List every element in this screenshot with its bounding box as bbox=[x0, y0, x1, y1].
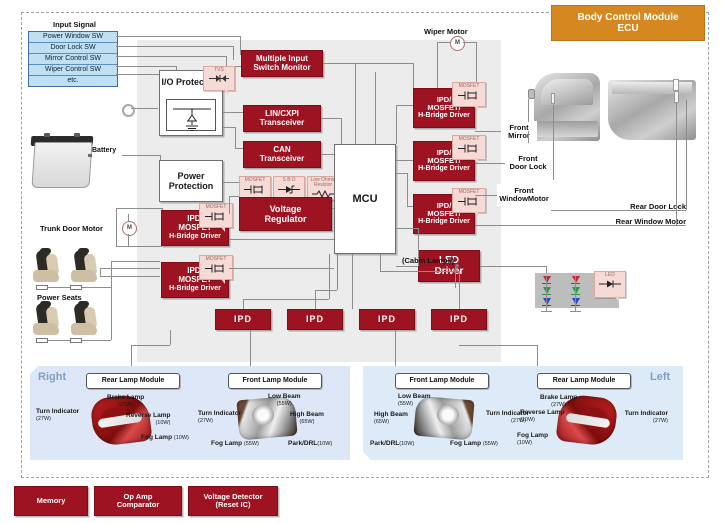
wire-mism-down bbox=[413, 63, 414, 88]
wire-batt-h bbox=[122, 155, 160, 156]
vehicle-front-bumper bbox=[536, 121, 598, 137]
block-ipd-3[interactable]: IPD bbox=[359, 309, 415, 330]
ipd4-label: IPD bbox=[450, 314, 468, 324]
legend-row: Memory Op Amp Comparator Voltage Detecto… bbox=[14, 486, 278, 516]
cap-right-front-low-beam-watt: (55W) bbox=[277, 401, 292, 407]
callout-mosfet-hb3-label: MOSFET bbox=[459, 83, 480, 89]
mosfet-glyph bbox=[240, 184, 270, 197]
wire-mcu-hb4b bbox=[396, 173, 407, 174]
tag-rear-lamp-module-right[interactable]: Rear Lamp Module bbox=[86, 373, 180, 389]
cap-left-rear-fog-lamp-watt: (10W) bbox=[517, 440, 532, 446]
mosfet-glyph-hb3 bbox=[453, 90, 485, 103]
wire-seat-top2 bbox=[100, 268, 160, 269]
cap-left-rear-reverse-lamp: Reverse Lamp (10W) bbox=[520, 409, 560, 424]
callout-tvs: TVS bbox=[203, 66, 235, 91]
cap-left-front-park-drl-watt: (10W) bbox=[399, 441, 414, 447]
cap-left-front-fog-lamp: Fog Lamp (55W) bbox=[450, 440, 498, 447]
block-ipd-1[interactable]: IPD bbox=[215, 309, 271, 330]
cap-right-front-fog-lamp-watt: (55W) bbox=[244, 441, 259, 447]
input-signal-list: Power Window SW Door Lock SW Mirror Cont… bbox=[28, 31, 118, 87]
battery-label: Battery bbox=[92, 147, 116, 154]
wiper-motor-icon: M bbox=[450, 36, 465, 51]
wire-trunk-mb bbox=[128, 234, 129, 246]
block-led-driver[interactable]: LED Driver bbox=[418, 250, 480, 282]
banner-line2: ECU bbox=[617, 23, 638, 34]
wire-trunk-bot bbox=[116, 246, 162, 247]
wire-input2v bbox=[233, 46, 234, 60]
cap-right-rear-reverse-lamp: Reverse Lamp (10W) bbox=[126, 412, 170, 427]
power-seat-icon-4 bbox=[68, 303, 102, 337]
battery-icon bbox=[31, 142, 92, 188]
wire-input4 bbox=[116, 66, 176, 67]
wire-rearwindow bbox=[475, 225, 686, 226]
wire-mcu-hb5v bbox=[407, 173, 408, 206]
mism-line2: Switch Monitor bbox=[253, 64, 310, 73]
cap-left-front-park-drl-name: Park/DRL bbox=[370, 440, 399, 447]
ipd1-label: IPD bbox=[234, 314, 252, 324]
side-label-right: Right bbox=[38, 371, 66, 383]
wire-hb1-vr bbox=[229, 196, 239, 197]
wire-seat-bus bbox=[111, 287, 112, 340]
mcu-label: MCU bbox=[352, 193, 377, 206]
vr-line1: Voltage bbox=[264, 204, 306, 214]
block-voltage-regulator[interactable]: Voltage Regulator bbox=[239, 197, 332, 231]
wire-seat-c bbox=[48, 340, 70, 341]
cap-left-front-low-beam-name: Low Beam bbox=[398, 393, 431, 400]
block-power-protection[interactable]: Power Protection bbox=[159, 160, 223, 202]
ipd3-label: IPD bbox=[378, 314, 396, 324]
cap-right-front-turn-indicator-name: Turn Indicator bbox=[198, 410, 241, 417]
wire-mcu-leddrv bbox=[396, 266, 418, 267]
wire-input5 bbox=[116, 74, 160, 75]
vehicle-front-door-handle bbox=[551, 93, 555, 104]
hb5-line3: H-Bridge Driver bbox=[418, 218, 470, 226]
wire-seat-b bbox=[82, 287, 111, 288]
mosfet-glyph-hb5 bbox=[453, 196, 485, 209]
tag-rear-lamp-module-left[interactable]: Rear Lamp Module bbox=[537, 373, 631, 389]
vr-line2: Regulator bbox=[264, 214, 306, 224]
cap-right-front-turn-indicator: Turn Indicator (27W) bbox=[198, 410, 238, 425]
wire-mcu-hb5 bbox=[407, 206, 413, 207]
wire-mcu-top1 bbox=[355, 63, 356, 144]
wire-input2 bbox=[116, 46, 233, 47]
wire-input3v bbox=[226, 56, 227, 66]
wire-ipd1-down bbox=[170, 330, 171, 345]
cap-right-rear-turn-indicator-watt: (27W) bbox=[36, 416, 51, 422]
wire-hb1-mcu bbox=[229, 239, 334, 240]
wire-ipd4-rear-left-h bbox=[459, 345, 537, 346]
cap-left-front-low-beam: Low Beam (55W) bbox=[398, 393, 431, 408]
hb1-line3: H-Bridge Driver bbox=[169, 233, 221, 241]
cap-right-front-high-beam-watt: (65W) bbox=[299, 419, 314, 425]
wire-mcu-ipd3 bbox=[352, 254, 353, 309]
block-ipd-4[interactable]: IPD bbox=[431, 309, 487, 330]
cap-right-front-high-beam: High Beam (65W) bbox=[290, 411, 324, 426]
input-signal-title: Input Signal bbox=[53, 20, 96, 29]
wire-conn-io bbox=[131, 108, 158, 109]
wire-mcu-ipd2v2 bbox=[337, 254, 338, 290]
cap-right-rear-reverse-lamp-name: Reverse Lamp bbox=[126, 412, 170, 419]
ignition-connector-icon bbox=[122, 104, 135, 117]
cabin-led-blue-1 bbox=[543, 298, 551, 305]
can-line2: Transceiver bbox=[260, 155, 304, 164]
cap-left-rear-brake-lamp-name: Brake Lamp bbox=[540, 394, 577, 401]
hb4-line3: H-Bridge Driver bbox=[418, 165, 470, 173]
banner-line1: Body Control Module bbox=[577, 12, 678, 23]
lin-line2: Transceiver bbox=[260, 119, 304, 128]
cabin-lamps-label: (Cabin Lamps) bbox=[402, 256, 454, 265]
label-front-window-motor: Front WindowMotor bbox=[497, 184, 551, 206]
cap-left-rear-turn-indicator-watt: (27W) bbox=[653, 418, 668, 424]
label-front-door-lock: Front Door Lock bbox=[505, 152, 551, 174]
wire-seat-top3 bbox=[100, 276, 160, 277]
wire-seat-up bbox=[111, 261, 112, 287]
legend-vdet-line2: (Reset IC) bbox=[203, 501, 262, 509]
battery-terminal-right bbox=[74, 133, 80, 137]
callout-mosfet-label: MOSFET bbox=[245, 177, 266, 183]
cabin-led-gnd-2 bbox=[570, 311, 581, 312]
seat-rail-2 bbox=[70, 285, 82, 290]
pp-line1: Power bbox=[177, 171, 204, 181]
diagram-canvas: Body Control Module ECU Input Signal Pow… bbox=[0, 0, 722, 523]
wire-frontdoorlock bbox=[475, 163, 505, 164]
wire-mcu-ipd4b bbox=[380, 271, 459, 272]
cap-right-rear-fog-lamp-watt: (10W) bbox=[174, 435, 189, 441]
block-can-transceiver[interactable]: CAN Transceiver bbox=[243, 141, 321, 168]
legend-voltage-detector[interactable]: Voltage Detector (Reset IC) bbox=[188, 486, 278, 516]
callout-led-label: LED bbox=[605, 272, 615, 278]
cap-right-front-park-drl-watt: (10W) bbox=[317, 441, 332, 447]
cap-left-rear-turn-indicator: Turn Indicator (27W) bbox=[624, 410, 668, 425]
wire-trunk-mt bbox=[128, 214, 129, 221]
cap-left-rear-brake-lamp-watt: (27W) bbox=[551, 402, 566, 408]
trunk-motor-icon: M bbox=[122, 221, 137, 236]
callout-sbd-label: S B D bbox=[282, 177, 295, 183]
cap-right-front-park-drl: Park/DRL(10W) bbox=[288, 440, 332, 447]
cap-left-front-park-drl: Park/DRL(10W) bbox=[370, 440, 414, 447]
legend-op-amp-comparator[interactable]: Op Amp Comparator bbox=[94, 486, 182, 516]
cap-right-front-low-beam: Low Beam (55W) bbox=[268, 393, 301, 408]
cabin-led-red-2 bbox=[572, 276, 580, 283]
mosfet-glyph-hb1 bbox=[200, 211, 232, 224]
vehicle-rear-door-window bbox=[612, 82, 692, 94]
wire-mcu-hb4 bbox=[396, 160, 413, 161]
callout-mosfet-hb4: MOSFET bbox=[452, 135, 486, 160]
wire-wiper-r bbox=[476, 42, 477, 82]
cap-left-rear-fog-lamp-name: Fog Lamp bbox=[517, 432, 548, 439]
wire-seat-d bbox=[82, 340, 111, 341]
wire-lin-mcu-v bbox=[341, 118, 342, 144]
legend-opamp-line2: Comparator bbox=[117, 501, 160, 509]
cap-right-rear-brake-lamp: Brake Lamp (27W) bbox=[107, 394, 144, 409]
wire-wiper-lh bbox=[437, 42, 450, 43]
cap-left-rear-reverse-lamp-name: Reverse Lamp bbox=[520, 409, 564, 416]
cap-right-front-high-beam-name: High Beam bbox=[290, 411, 324, 418]
tvs-symbol-box bbox=[166, 99, 216, 131]
front-window-motor-line2: WindowMotor bbox=[499, 195, 549, 203]
block-lin-cxpi-transceiver[interactable]: LIN/CXPI Transceiver bbox=[243, 105, 321, 132]
seat-rail-4 bbox=[70, 338, 82, 343]
wire-mirror bbox=[475, 131, 501, 132]
wire-ipd3-front-left bbox=[395, 330, 396, 366]
input-item-etc[interactable]: etc. bbox=[29, 76, 117, 86]
wire-trunk-top bbox=[116, 208, 162, 209]
wiper-motor-label: Wiper Motor bbox=[424, 27, 468, 36]
cap-right-rear-turn-indicator: Turn Indicator (27W) bbox=[36, 408, 78, 423]
cabin-led-rail-2 bbox=[575, 276, 576, 312]
cap-right-rear-fog-lamp: Fog Lamp (10W) bbox=[141, 434, 189, 441]
cabin-node-dot bbox=[455, 264, 459, 268]
wire-mcu-hb3v bbox=[396, 105, 397, 144]
wire-mcu-hb5b bbox=[396, 228, 418, 229]
wire-mism-right bbox=[323, 63, 413, 64]
cap-left-front-high-beam-name: High Beam bbox=[374, 411, 408, 418]
cap-right-rear-reverse-lamp-watt: (10W) bbox=[155, 420, 170, 426]
wire-mcu-ipd4c bbox=[459, 271, 460, 309]
callout-tvs-label: TVS bbox=[214, 67, 224, 73]
cap-right-rear-brake-lamp-watt: (27W) bbox=[118, 402, 133, 408]
wire-ipd1-rear-right bbox=[131, 345, 132, 366]
cap-left-rear-turn-indicator-name: Turn Indicator bbox=[625, 410, 668, 417]
mosfet-glyph-hb2 bbox=[200, 263, 232, 276]
vehicle-rear-door-handle bbox=[674, 91, 679, 103]
cap-right-front-fog-lamp: Fog Lamp (55W) bbox=[211, 440, 259, 447]
wire-hb1-vrv bbox=[229, 196, 230, 214]
power-seats-label: Power Seats bbox=[37, 293, 82, 302]
wire-mcu-hb3 bbox=[396, 105, 413, 106]
tvs-glyph bbox=[204, 74, 234, 85]
power-seat-icon-1 bbox=[30, 250, 64, 284]
seat-rail-1 bbox=[36, 285, 48, 290]
block-ipd-2[interactable]: IPD bbox=[287, 309, 343, 330]
wire-mcu-ipd2h bbox=[315, 290, 337, 291]
wire-input1 bbox=[116, 36, 240, 37]
wire-seat-jv bbox=[100, 268, 101, 276]
wire-cabin-v1 bbox=[455, 266, 456, 288]
cap-right-rear-fog-lamp-name: Fog Lamp bbox=[141, 434, 172, 441]
wire-mcu-ipd1h bbox=[243, 299, 329, 300]
schottky-diode-glyph bbox=[274, 184, 304, 197]
wire-reardoorlock bbox=[551, 210, 686, 211]
side-label-left: Left bbox=[650, 371, 670, 383]
wire-lock-up bbox=[553, 105, 554, 180]
callout-mosfet-hb1: MOSFET bbox=[199, 203, 233, 228]
wire-frontwindow bbox=[475, 195, 497, 196]
input-item-door-lock-sw[interactable]: Door Lock SW bbox=[29, 43, 117, 54]
callout-mosfet-hb2: MOSFET bbox=[199, 255, 233, 280]
wire-io-can2 bbox=[235, 127, 236, 148]
block-multiple-input-switch-monitor[interactable]: Multiple Input Switch Monitor bbox=[241, 50, 323, 77]
wire-ipd2-front-right bbox=[250, 330, 251, 366]
wire-mirror-v bbox=[528, 131, 529, 143]
cap-left-front-high-beam: High Beam (65W) bbox=[374, 411, 408, 426]
cabin-led-green-2 bbox=[572, 287, 580, 294]
wire-mcu-top2 bbox=[375, 72, 376, 144]
cap-right-front-park-drl-name: Park/DRL bbox=[288, 440, 317, 447]
hb2-line3: H-Bridge Driver bbox=[169, 285, 221, 293]
wire-ipd4-rear-left bbox=[537, 345, 538, 366]
wire-wiper-rh bbox=[463, 42, 476, 43]
block-mcu[interactable]: MCU bbox=[334, 144, 396, 254]
vehicle-rear-window-switch bbox=[673, 79, 679, 91]
wire-vr-mcu bbox=[332, 208, 334, 209]
cap-right-front-fog-lamp-name: Fog Lamp bbox=[211, 440, 242, 447]
input-item-wiper-control-sw[interactable]: Wiper Control SW bbox=[29, 65, 117, 76]
cap-right-front-low-beam-name: Low Beam bbox=[268, 393, 301, 400]
wire-mcu-ipd4a bbox=[380, 254, 381, 271]
wire-reardoorlock-v bbox=[686, 100, 687, 210]
tag-front-lamp-module-right[interactable]: Front Lamp Module bbox=[228, 373, 322, 389]
cabin-led-blue-2 bbox=[572, 298, 580, 305]
front-door-lock-line2: Door Lock bbox=[509, 163, 546, 171]
callout-mosfet-hb1-label: MOSFET bbox=[206, 204, 227, 210]
vehicle-front-windshield bbox=[541, 79, 593, 105]
callout-mosfet-hb4-label: MOSFET bbox=[459, 136, 480, 142]
front-mirror-line2: Mirror bbox=[508, 132, 530, 140]
cap-left-front-fog-lamp-name: Fog Lamp bbox=[450, 440, 481, 447]
input-item-power-window-sw[interactable]: Power Window SW bbox=[29, 32, 117, 43]
cap-left-rear-fog-lamp: Fog Lamp (10W) bbox=[517, 432, 548, 447]
pp-line2: Protection bbox=[169, 181, 214, 191]
cap-right-front-turn-indicator-watt: (27W) bbox=[198, 418, 213, 424]
wire-seat-top1 bbox=[111, 261, 160, 262]
wire-input3 bbox=[116, 56, 226, 57]
callout-mosfet-hb3: MOSFET bbox=[452, 82, 486, 107]
ipd2-label: IPD bbox=[306, 314, 324, 324]
callout-mosfet-hb2-label: MOSFET bbox=[206, 256, 227, 262]
callout-led: LED bbox=[594, 271, 626, 298]
power-seat-icon-2 bbox=[68, 250, 102, 284]
cap-left-front-low-beam-watt: (55W) bbox=[398, 401, 413, 407]
battery-terminal-left bbox=[44, 133, 50, 137]
led-diode-glyph bbox=[595, 279, 625, 291]
cap-right-rear-brake-lamp-name: Brake Lamp bbox=[107, 394, 144, 401]
cap-left-front-fog-lamp-watt: (55W) bbox=[483, 441, 498, 447]
mosfet-glyph-hb4 bbox=[453, 143, 485, 156]
wire-lin-mcu bbox=[321, 118, 341, 119]
vehicle-front-mirror-stub bbox=[528, 89, 535, 99]
wire-io-lin bbox=[223, 112, 243, 113]
cap-right-rear-turn-indicator-name: Turn Indicator bbox=[36, 408, 79, 415]
wire-io-can3 bbox=[235, 148, 243, 149]
wire-mcu-ipd1v2 bbox=[329, 254, 330, 299]
diagram-title-banner: Body Control Module ECU bbox=[551, 5, 705, 41]
wire-mcu-ipd1v bbox=[243, 299, 244, 309]
tvs-diode-icon bbox=[167, 100, 217, 132]
cap-left-rear-brake-lamp: Brake Lamp (27W) bbox=[540, 394, 577, 409]
callout-mosfet-hb5: MOSFET bbox=[452, 188, 486, 213]
wire-hb2-mcu bbox=[229, 268, 334, 269]
wire-trunk-loop-l bbox=[116, 208, 117, 246]
battery-lead bbox=[88, 154, 92, 157]
io-line1: I/O bbox=[161, 77, 173, 87]
cabin-led-gnd-1 bbox=[541, 311, 552, 312]
wire-mirror-up bbox=[528, 99, 529, 122]
wire-wiper-l bbox=[437, 42, 438, 88]
wire-rearwindow-v bbox=[676, 103, 677, 225]
wire-ipd1-rear-right-h bbox=[131, 345, 170, 346]
legend-memory-line1: Memory bbox=[37, 497, 66, 505]
wire-seat-a bbox=[48, 287, 70, 288]
input-item-mirror-control-sw[interactable]: Mirror Control SW bbox=[29, 54, 117, 65]
cabin-led-green-1 bbox=[543, 287, 551, 294]
legend-memory[interactable]: Memory bbox=[14, 486, 88, 516]
tag-front-lamp-module-left[interactable]: Front Lamp Module bbox=[395, 373, 489, 389]
wire-io-can1 bbox=[223, 127, 235, 128]
cabin-led-rail-1 bbox=[546, 276, 547, 312]
cap-left-front-high-beam-watt: (65W) bbox=[374, 419, 389, 425]
wire-pp-vr bbox=[223, 182, 239, 183]
cabin-led-red-1 bbox=[543, 276, 551, 283]
power-seat-icon-3 bbox=[30, 303, 64, 337]
seat-rail-3 bbox=[36, 338, 48, 343]
wire-can-mcu bbox=[321, 154, 334, 155]
hb3-line3: H-Bridge Driver bbox=[418, 112, 470, 120]
label-front-mirror: Front Mirror bbox=[501, 121, 537, 143]
trunk-door-motor-label: Trunk Door Motor bbox=[40, 224, 103, 233]
wire-leddrv-cabin bbox=[480, 266, 546, 267]
cap-left-rear-reverse-lamp-watt: (10W) bbox=[520, 417, 535, 423]
